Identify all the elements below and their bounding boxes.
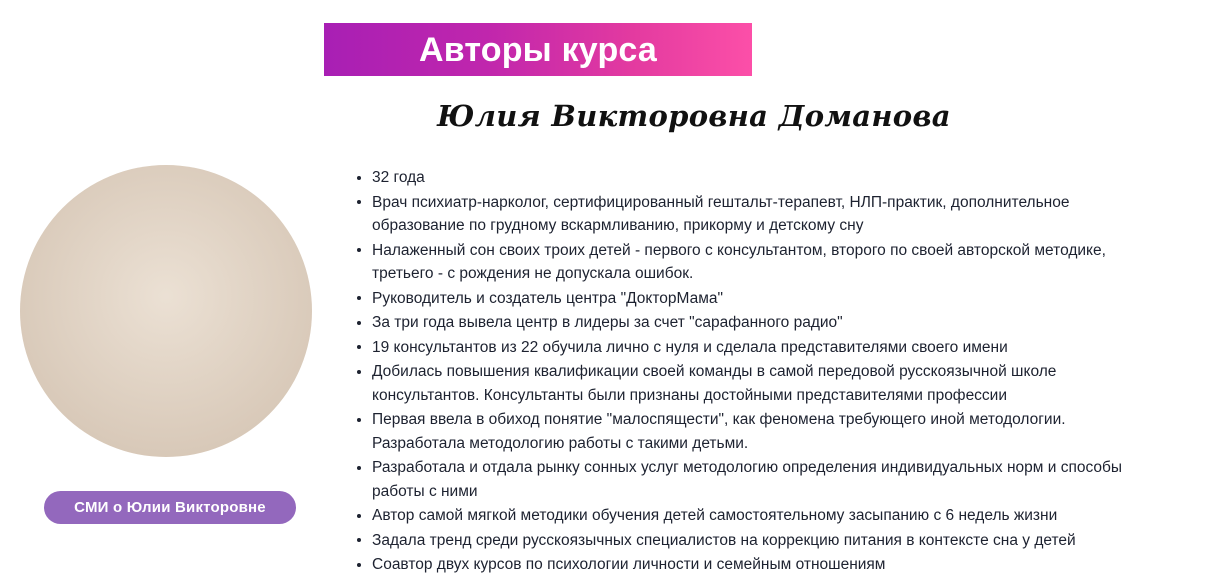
bio-list-item: Соавтор двух курсов по психологии личнос… [352,553,1142,577]
media-about-author-button[interactable]: СМИ о Юлии Викторовне [44,491,296,524]
bio-list-item: 32 года [352,166,1142,190]
bio-list-item: Добилась повышения квалификации своей ко… [352,360,1142,407]
bio-list-item: Руководитель и создатель центра "ДокторМ… [352,287,1142,311]
section-title-text: Авторы курса [419,33,657,67]
bio-list-item: Задала тренд среди русскоязычных специал… [352,529,1142,553]
author-name-heading: Юлия Викторовна Доманова [324,99,1064,133]
bio-list-item: За три года вывела центр в лидеры за сче… [352,311,1142,335]
bio-list-item: Разработала и отдала рынку сонных услуг … [352,456,1142,503]
author-portrait [20,165,312,457]
bio-list-item: 19 консультантов из 22 обучила лично с н… [352,336,1142,360]
author-bio-list: 32 года Врач психиатр-нарколог, сертифиц… [352,166,1142,578]
bio-list-item: Врач психиатр-нарколог, сертифицированны… [352,191,1142,238]
section-title-banner: Авторы курса [324,23,752,76]
bio-list-item: Первая ввела в обиход понятие "малоспяще… [352,408,1142,455]
bio-list-item: Автор самой мягкой методики обучения дет… [352,504,1142,528]
author-page: Авторы курса Юлия Викторовна Доманова СМ… [0,0,1205,579]
author-portrait-photo [20,165,312,457]
bio-list-item: Налаженный сон своих троих детей - перво… [352,239,1142,286]
